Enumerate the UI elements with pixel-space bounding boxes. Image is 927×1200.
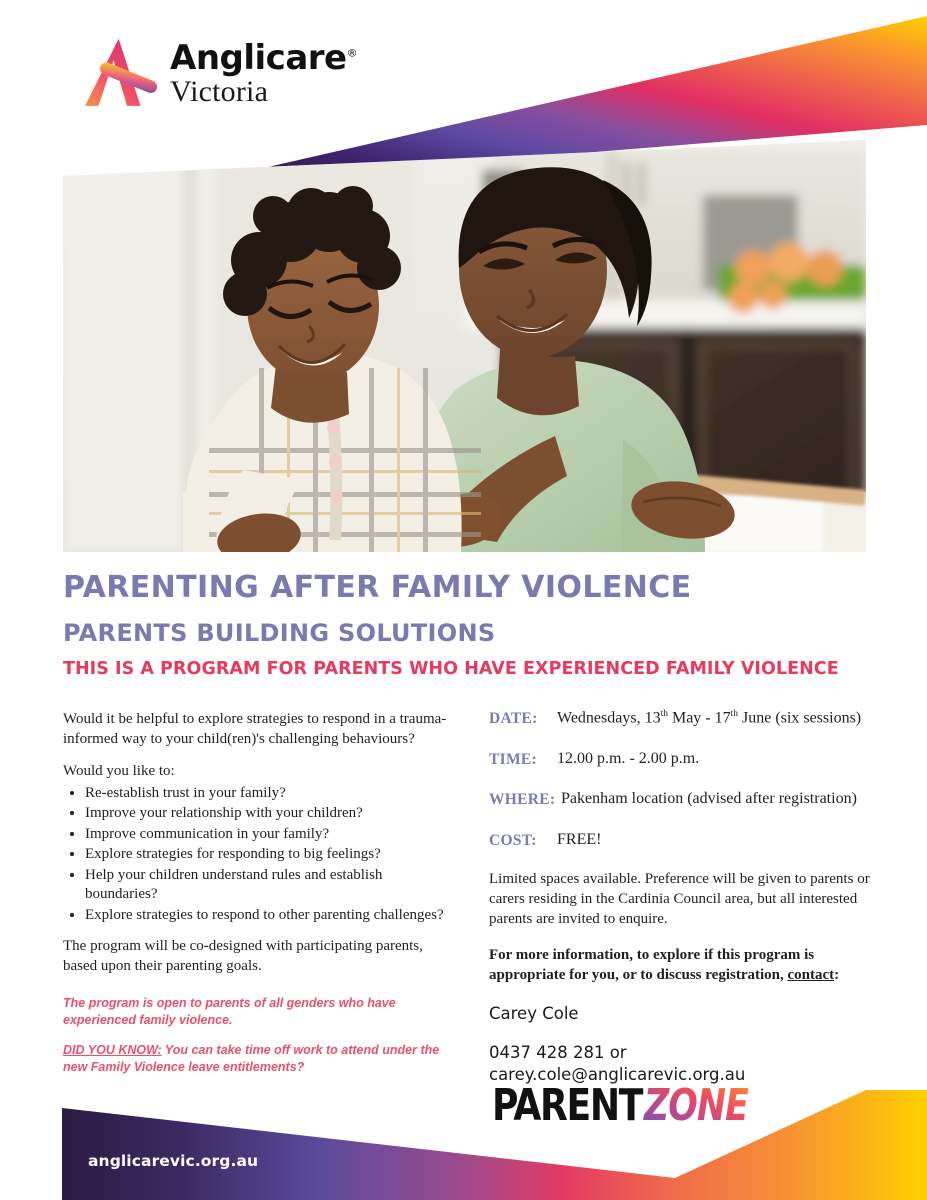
- list-item: Explore strategies to respond to other p…: [85, 906, 453, 926]
- right-details-column: DATE: Wednesdays, 13th May - 17th June (…: [489, 708, 874, 1102]
- co-design-paragraph: The program will be co-designed with par…: [63, 937, 453, 977]
- page-subtitle: PARENTS BUILDING SOLUTIONS: [63, 621, 873, 647]
- parentzone-word-zone: ZONE: [642, 1080, 749, 1131]
- detail-label-time: TIME:: [489, 749, 557, 771]
- logo-word-victoria: Victoria: [170, 77, 357, 107]
- heading-block: PARENTING AFTER FAMILY VIOLENCE PARENTS …: [63, 572, 873, 680]
- detail-label-cost: COST:: [489, 830, 557, 852]
- detail-value-time: 12.00 p.m. - 2.00 p.m.: [557, 749, 699, 771]
- logo-word-anglicare: Anglicare®: [170, 41, 357, 75]
- detail-row-cost: COST: FREE!: [489, 830, 874, 852]
- date-ordinal-1: th: [661, 709, 668, 719]
- list-item: Improve your relationship with your chil…: [85, 804, 453, 824]
- anglicare-victoria-logo: Anglicare® Victoria: [80, 28, 380, 120]
- detail-value-date: Wednesdays, 13th May - 17th June (six se…: [557, 708, 861, 730]
- detail-row-where: WHERE: Pakenham location (advised after …: [489, 789, 874, 811]
- detail-value-cost: FREE!: [557, 830, 601, 852]
- limited-spaces-note: Limited spaces available. Preference wil…: [489, 870, 874, 929]
- contact-link[interactable]: contact: [787, 967, 834, 983]
- page-tagline: THIS IS A PROGRAM FOR PARENTS WHO HAVE E…: [63, 660, 873, 679]
- more-information-note: For more information, to explore if this…: [489, 946, 874, 986]
- registered-mark-icon: ®: [347, 47, 358, 60]
- list-item: Improve communication in your family?: [85, 825, 453, 845]
- footer-gradient-chevron: [0, 1080, 927, 1200]
- parentzone-logo: PARENT ZONE: [492, 1080, 752, 1132]
- parentzone-word-parent: PARENT: [492, 1080, 643, 1131]
- intro-paragraph: Would it be helpful to explore strategie…: [63, 710, 453, 750]
- page-title: PARENTING AFTER FAMILY VIOLENCE: [63, 572, 873, 604]
- did-you-know-note: DID YOU KNOW: You can take time off work…: [63, 1042, 453, 1075]
- list-item: Help your children understand rules and …: [85, 866, 453, 905]
- detail-label-date: DATE:: [489, 708, 557, 730]
- left-content-column: Would it be helpful to explore strategie…: [63, 710, 453, 1089]
- anglicare-a-mark-icon: [80, 32, 164, 116]
- list-item: Re-establish trust in your family?: [85, 784, 453, 804]
- did-you-know-label: DID YOU KNOW:: [63, 1043, 162, 1057]
- detail-row-time: TIME: 12.00 p.m. - 2.00 p.m.: [489, 749, 874, 771]
- detail-label-where: WHERE:: [489, 789, 561, 811]
- benefits-list: Re-establish trust in your family? Impro…: [63, 784, 453, 926]
- detail-row-date: DATE: Wednesdays, 13th May - 17th June (…: [489, 708, 874, 730]
- list-item: Explore strategies for responding to big…: [85, 845, 453, 865]
- date-ordinal-2: th: [731, 709, 738, 719]
- detail-value-where: Pakenham location (advised after registr…: [561, 789, 857, 811]
- contact-person-name: Carey Cole: [489, 1003, 874, 1025]
- footer-website-url[interactable]: anglicarevic.org.au: [88, 1152, 258, 1170]
- hero-photo: [63, 140, 866, 552]
- list-lead: Would you like to:: [63, 762, 453, 782]
- inclusive-note: The program is open to parents of all ge…: [63, 995, 453, 1028]
